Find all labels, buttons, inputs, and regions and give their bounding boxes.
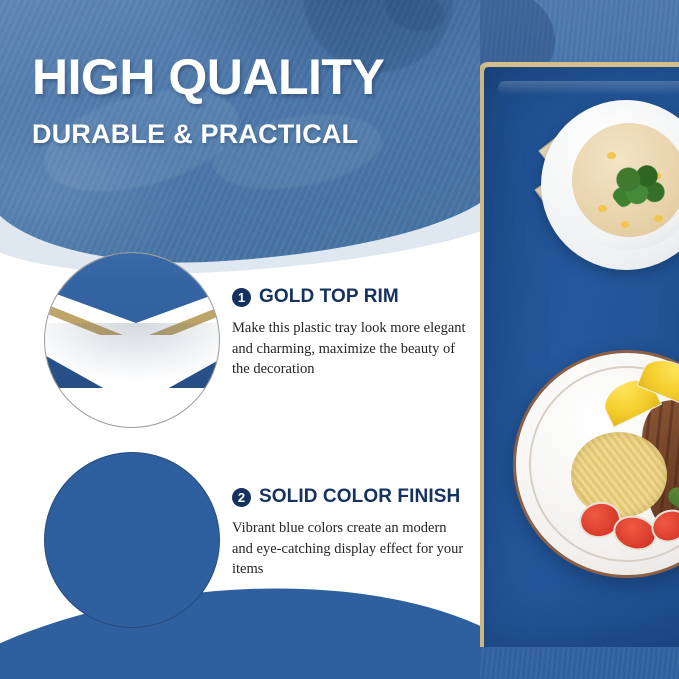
feature-title: GOLD TOP RIM: [259, 286, 399, 308]
pasta: [571, 432, 667, 518]
tray-top-surface: [44, 252, 220, 323]
hero-text-group: HIGH QUALITY DURABLE & PRACTICAL: [0, 0, 480, 150]
feature-description: Make this plastic tray look more elegant…: [232, 318, 468, 380]
product-photo: [455, 0, 679, 679]
feature-text-gold-top-rim: 1 GOLD TOP RIM Make this plastic tray lo…: [232, 286, 468, 380]
herb-garnish: [611, 162, 669, 212]
feature-number-badge: 2: [232, 488, 251, 507]
corn-kernel: [607, 152, 616, 159]
feature-number-badge: 1: [232, 288, 251, 307]
feature-heading: 1 GOLD TOP RIM: [232, 286, 468, 308]
tray-corner-illustration: [44, 252, 220, 413]
feature-image-solid-color-finish: [44, 452, 220, 628]
subheadline: DURABLE & PRACTICAL: [32, 103, 480, 150]
info-panel: HIGH QUALITY DURABLE & PRACTICAL 1 GOLD …: [0, 0, 480, 679]
feature-description: Vibrant blue colors create an modern and…: [232, 518, 468, 580]
tray-gloss-highlight: [498, 81, 679, 95]
tray-drop-shadow: [44, 323, 220, 383]
corn-kernel: [598, 205, 607, 212]
infographic-page: HIGH QUALITY DURABLE & PRACTICAL 1 GOLD …: [0, 0, 679, 679]
feature-text-solid-color-finish: 2 SOLID COLOR FINISH Vibrant blue colors…: [232, 486, 468, 580]
feature-heading: 2 SOLID COLOR FINISH: [232, 486, 468, 508]
feature-image-gold-top-rim: [44, 252, 220, 428]
corn-kernel: [654, 215, 663, 222]
feature-title: SOLID COLOR FINISH: [259, 486, 460, 508]
headline: HIGH QUALITY: [32, 0, 480, 103]
corn-kernel: [621, 221, 629, 228]
